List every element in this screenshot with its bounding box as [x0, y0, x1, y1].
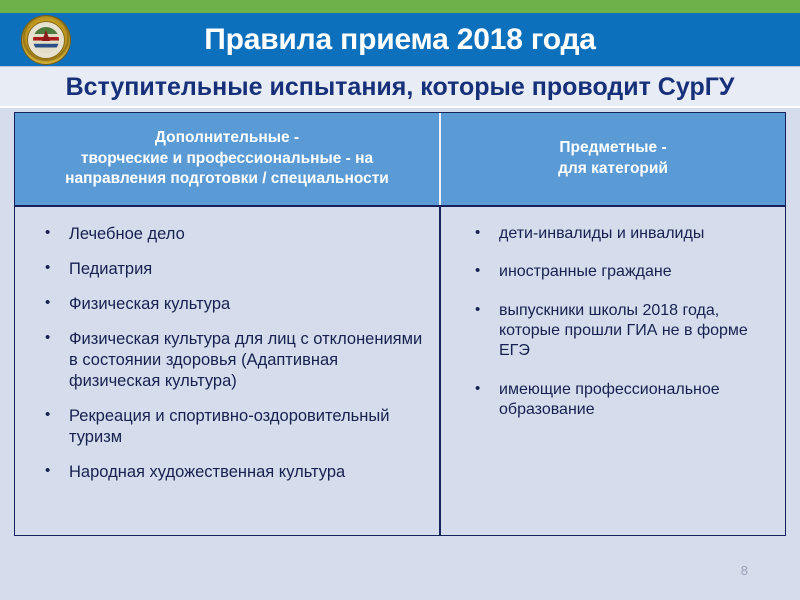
- top-accent-stripe: [0, 0, 800, 13]
- table-cell-subject: дети-инвалиды и инвалиды иностранные гра…: [441, 207, 785, 535]
- subject-categories-list: дети-инвалиды и инвалиды иностранные гра…: [471, 224, 775, 420]
- header-line: направления подготовки / специальности: [65, 169, 389, 190]
- list-item: имеющие профессиональное образование: [471, 380, 775, 421]
- table-column-header-subject: Предметные - для категорий: [441, 113, 785, 205]
- header-line: Дополнительные -: [65, 128, 389, 149]
- table-header-row: Дополнительные - творческие и профессион…: [15, 113, 785, 207]
- list-item: Физическая культура для лиц с отклонения…: [41, 329, 429, 392]
- table-cell-additional: Лечебное дело Педиатрия Физическая культ…: [15, 207, 441, 535]
- header-line: творческие и профессиональные - на: [65, 149, 389, 170]
- list-item: Народная художественная культура: [41, 462, 429, 483]
- header-line: для категорий: [558, 159, 668, 180]
- admission-exams-table: Дополнительные - творческие и профессион…: [14, 112, 786, 536]
- list-item: иностранные граждане: [471, 262, 775, 282]
- page-title: Правила приема 2018 года: [0, 13, 800, 66]
- list-item: Педиатрия: [41, 259, 429, 280]
- table-body-row: Лечебное дело Педиатрия Физическая культ…: [15, 207, 785, 535]
- page-number: 8: [741, 563, 748, 578]
- header-line: Предметные -: [558, 138, 668, 159]
- list-item: выпускники школы 2018 года, которые прош…: [471, 301, 775, 362]
- list-item: дети-инвалиды и инвалиды: [471, 224, 775, 244]
- list-item: Лечебное дело: [41, 224, 429, 245]
- additional-programs-list: Лечебное дело Педиатрия Физическая культ…: [41, 224, 429, 483]
- slide-subtitle-band: Вступительные испытания, которые проводи…: [0, 66, 800, 108]
- list-item: Физическая культура: [41, 294, 429, 315]
- slide-title-bar: Правила приема 2018 года: [0, 13, 800, 66]
- slide-canvas: Правила приема 2018 года Вступительные и…: [0, 0, 800, 600]
- table-column-header-additional: Дополнительные - творческие и профессион…: [15, 113, 441, 205]
- page-subtitle: Вступительные испытания, которые проводи…: [0, 67, 800, 107]
- list-item: Рекреация и спортивно-оздоровительный ту…: [41, 406, 429, 448]
